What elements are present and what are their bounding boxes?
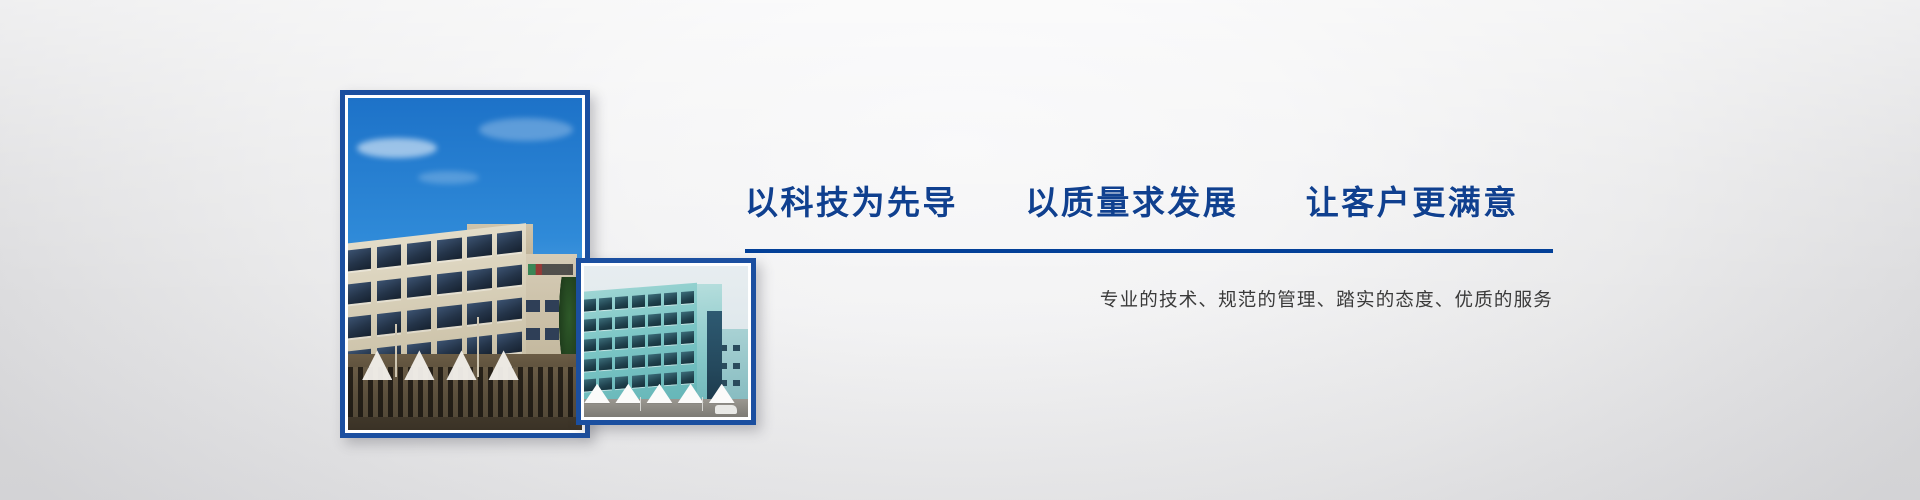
window-pane	[599, 377, 612, 391]
window-row	[345, 264, 526, 305]
window-pane	[733, 345, 741, 351]
window-pane	[583, 318, 596, 332]
photo-company-building-exterior	[340, 90, 590, 438]
window-pane	[407, 308, 432, 331]
window-pane	[468, 301, 493, 324]
window-pane	[583, 338, 596, 352]
window-pane	[599, 337, 612, 351]
window-pane	[664, 291, 677, 305]
window-pane	[733, 380, 741, 386]
window-pane	[468, 235, 493, 258]
window-pane	[526, 300, 541, 312]
window-pane	[498, 265, 523, 288]
window-pane	[599, 317, 612, 331]
window-pane	[545, 328, 560, 340]
window-pane	[681, 350, 694, 364]
window-pane	[583, 358, 596, 372]
slogan-headline: 以科技为先导 以质量求发展 让客户更满意	[745, 176, 1519, 224]
photo-inner-mat-secondary	[581, 263, 751, 420]
window-pane	[615, 335, 628, 349]
window-pane	[599, 297, 612, 311]
slogan-phrase-3: 让客户更满意	[1306, 184, 1519, 221]
window-pane	[615, 355, 628, 369]
window-pane	[664, 311, 677, 325]
window-pane	[498, 298, 523, 321]
window-pane	[407, 241, 432, 264]
window-pane	[498, 332, 523, 355]
cloud-shape	[479, 118, 573, 141]
window-row	[345, 298, 526, 339]
window-pane	[347, 248, 372, 271]
parked-car	[715, 405, 736, 414]
company-slogan-banner: 以科技为先导 以质量求发展 让客户更满意 专业的技术、规范的管理、踏实的态度、优…	[0, 0, 1920, 500]
building-photo-scene-main	[348, 98, 582, 430]
photo-inner-mat-main	[345, 95, 585, 433]
window-pane	[648, 333, 661, 347]
photo-company-building-glass-facade	[576, 258, 756, 425]
window-pane	[437, 271, 462, 294]
window-pane	[648, 313, 661, 327]
window-pane	[377, 245, 402, 268]
window-row	[581, 310, 697, 332]
building-signage-logo	[528, 264, 572, 275]
window-pane	[664, 352, 677, 366]
window-row	[345, 231, 526, 272]
window-pane	[407, 275, 432, 298]
window-pane	[468, 268, 493, 291]
window-row	[581, 290, 697, 312]
window-pane	[664, 332, 677, 346]
window-pane	[648, 293, 661, 307]
building-photo-scene-secondary	[584, 266, 748, 417]
window-pane	[632, 334, 645, 348]
window-pane	[632, 374, 645, 388]
slogan-subtitle: 专业的技术、规范的管理、踏实的态度、优质的服务	[745, 286, 1553, 312]
cloud-shape	[357, 138, 437, 158]
window-pane	[599, 357, 612, 371]
slogan-phrase-2: 以质量求发展	[1025, 184, 1238, 221]
window-pane	[632, 354, 645, 368]
window-pane	[526, 328, 541, 340]
light-pole	[395, 324, 397, 377]
window-pane	[632, 314, 645, 328]
window-pane	[377, 278, 402, 301]
window-pane	[347, 315, 372, 338]
window-pane	[347, 282, 372, 305]
window-pane	[664, 372, 677, 386]
window-pane	[648, 353, 661, 367]
slogan-phrase-1: 以科技为先导	[745, 184, 958, 221]
cloud-shape	[418, 171, 479, 184]
window-pane	[681, 330, 694, 344]
window-pane	[498, 231, 523, 254]
window-pane	[583, 298, 596, 312]
light-pole	[477, 317, 479, 377]
tent-pole	[702, 397, 703, 411]
window-pane	[377, 312, 402, 335]
window-row	[581, 330, 697, 352]
window-pane	[615, 295, 628, 309]
window-pane	[545, 300, 560, 312]
window-pane	[437, 305, 462, 328]
tent-pole	[640, 397, 641, 411]
window-pane	[615, 315, 628, 329]
window-pane	[681, 310, 694, 324]
window-pane	[681, 290, 694, 304]
window-pane	[681, 370, 694, 384]
window-pane	[733, 363, 741, 369]
window-row	[581, 350, 697, 372]
slogan-divider-rule	[745, 249, 1553, 253]
window-pane	[437, 238, 462, 261]
window-pane	[648, 373, 661, 387]
window-pane	[632, 294, 645, 308]
